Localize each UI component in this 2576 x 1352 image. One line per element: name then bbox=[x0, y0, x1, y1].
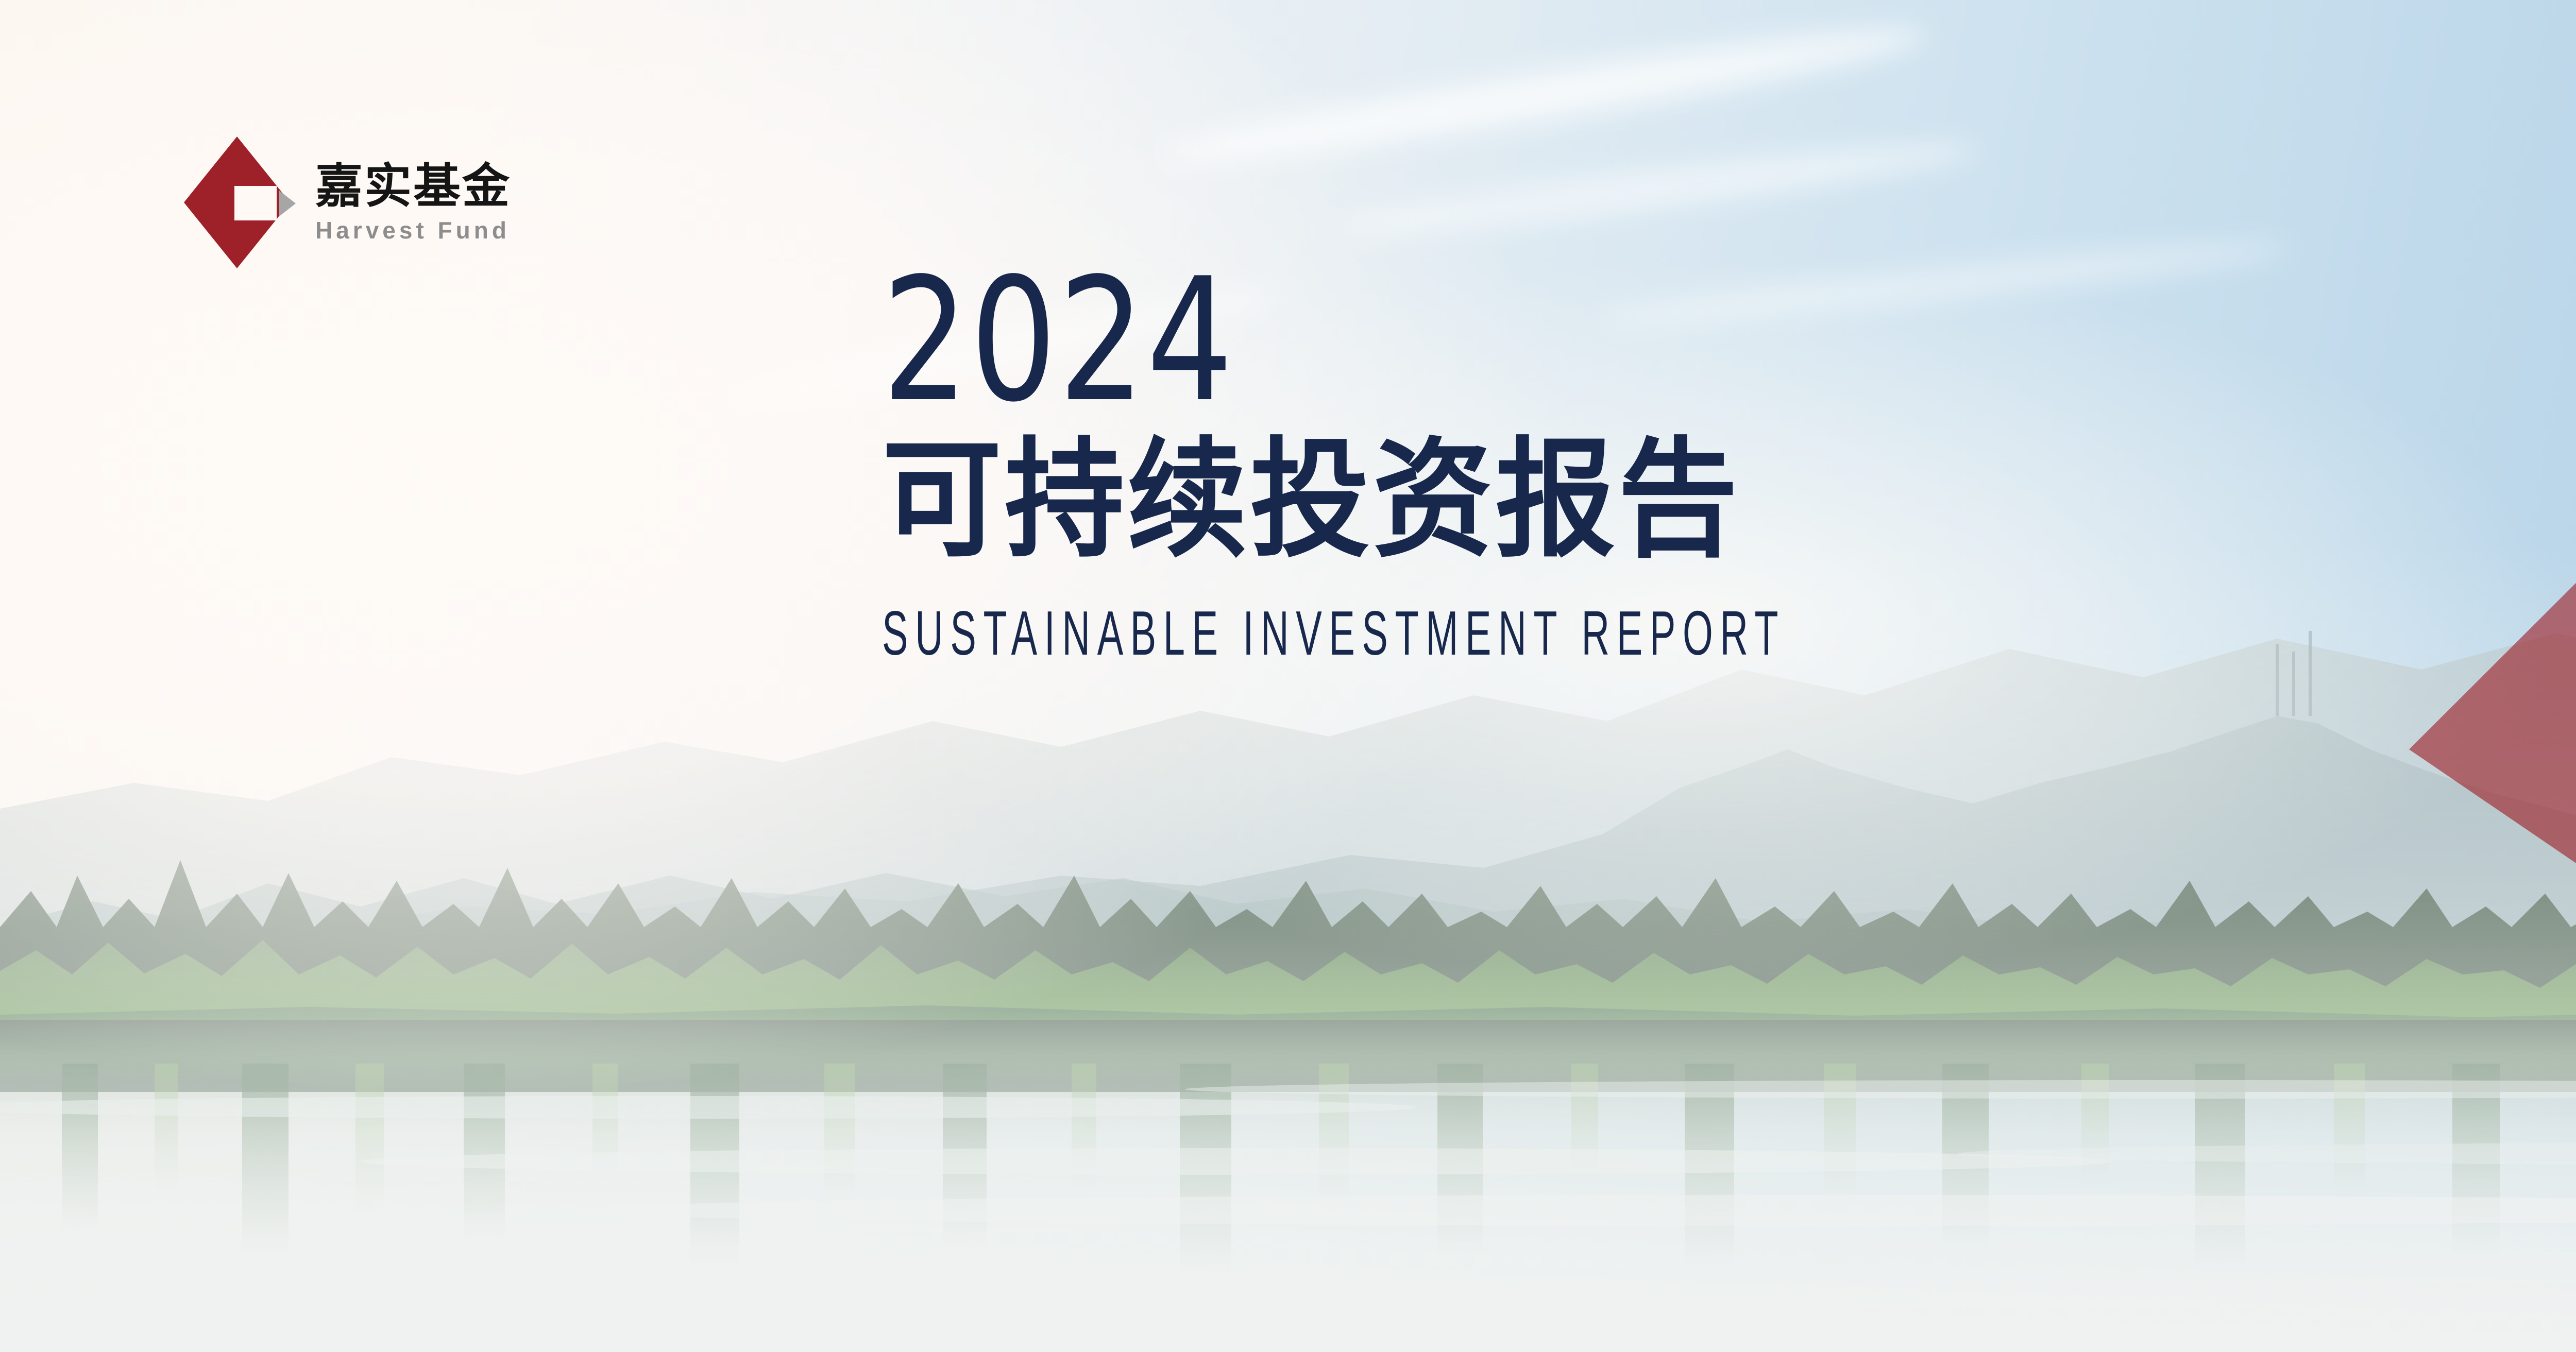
report-cover-page: 嘉实基金 Harvest Fund 2024 可持续投资报告 SUSTAINAB… bbox=[0, 0, 2576, 1352]
harvest-fund-diamond-mark bbox=[181, 135, 298, 270]
logo-company-name-en: Harvest Fund bbox=[315, 218, 511, 242]
report-title-cn: 可持续投资报告 bbox=[882, 436, 2237, 564]
cover-title-block: 2024 可持续投资报告 SUSTAINABLE INVESTMENT REPO… bbox=[882, 268, 2339, 664]
logo-wordmark: 嘉实基金 Harvest Fund bbox=[315, 163, 511, 242]
logo-company-name-cn: 嘉实基金 bbox=[315, 163, 511, 210]
report-title-en: SUSTAINABLE INVESTMENT REPORT bbox=[882, 602, 1785, 664]
logo-diamond-shape bbox=[184, 136, 290, 268]
report-year: 2024 bbox=[882, 268, 2047, 414]
harvest-fund-logo[interactable]: 嘉实基金 Harvest Fund bbox=[181, 135, 511, 270]
logo-arrow-triangle bbox=[279, 191, 296, 216]
